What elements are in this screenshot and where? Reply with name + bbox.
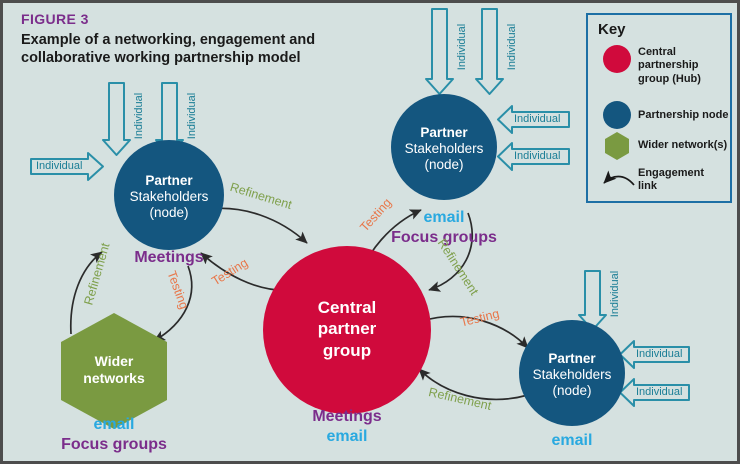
individual-arrow-top-3 xyxy=(426,9,453,94)
wider-networks-shape xyxy=(61,313,167,429)
key-legend: Key Central partnership group (Hub) Part… xyxy=(586,13,732,203)
node-top-right-shape xyxy=(391,94,497,200)
link-testing-tl-wn xyxy=(154,266,192,341)
key-label-hub: Central partnership group (Hub) xyxy=(638,46,728,86)
key-label-node: Partnership node xyxy=(638,109,730,122)
individual-arrow-right-1 xyxy=(498,106,569,133)
hub-shape xyxy=(263,246,431,414)
key-label-network: Wider network(s) xyxy=(638,139,730,152)
link-refinement-br-hub xyxy=(419,369,528,399)
node-bottom-right-shape xyxy=(519,320,625,426)
node-top-left-shape xyxy=(114,140,224,250)
individual-arrow-left-1 xyxy=(31,153,103,180)
link-refinement-tr-hub xyxy=(429,213,472,290)
individual-arrow-top-1 xyxy=(103,83,130,155)
individual-arrow-right-2 xyxy=(498,143,569,170)
link-refinement-tl-wn xyxy=(71,252,102,334)
key-swatch-network-icon xyxy=(605,132,629,160)
figure-number: FIGURE 3 xyxy=(21,11,89,27)
figure-panel: FIGURE 3 Example of a networking, engage… xyxy=(0,0,740,464)
link-testing-hub-br xyxy=(422,316,528,348)
figure-title: Example of a networking, engagement and … xyxy=(21,31,351,67)
individual-arrow-right-4 xyxy=(620,379,689,406)
key-swatch-node-icon xyxy=(603,101,631,129)
key-swatch-link-icon xyxy=(604,177,634,186)
individual-arrow-top-4 xyxy=(476,9,503,94)
individual-arrow-right-3 xyxy=(620,341,689,368)
key-swatch-hub-icon xyxy=(603,45,631,73)
individual-arrow-top-5 xyxy=(579,271,606,330)
key-label-link: Engagement link xyxy=(638,167,708,194)
